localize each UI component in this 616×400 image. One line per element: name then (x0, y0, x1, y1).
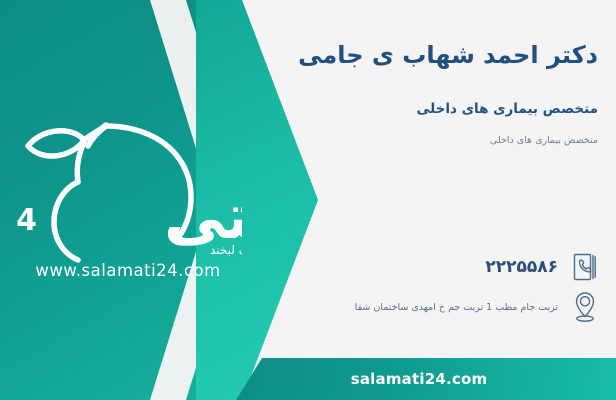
page-title: دکتر احمد شهاب ی جامی (326, 40, 598, 70)
apple-fruit-outline-icon: سلامتی 24 به راحتی یک لبخند www.salamati… (14, 112, 242, 280)
contact-row-phone[interactable]: ۲۲۲۵۵۸۶ (485, 248, 602, 286)
logo-number-24: 24 (14, 203, 38, 238)
location-pin-icon (568, 288, 602, 326)
doctor-profile-card: سلامتی 24 به راحتی یک لبخند www.salamati… (0, 0, 616, 400)
phone-number: ۲۲۲۵۵۸۶ (485, 257, 558, 277)
doctor-specialty: متخصص بیماری های داخلی (326, 101, 598, 117)
logo-tagline: به راحتی یک لبخند (210, 243, 242, 258)
doctor-specialty-secondary: متخصص بیماری های داخلی (326, 135, 598, 146)
brand-logo: سلامتی 24 به راحتی یک لبخند www.salamati… (14, 112, 242, 280)
profile-content: دکتر احمد شهاب ی جامی متخصص بیماری های د… (316, 0, 616, 400)
contact-row-address[interactable]: تربت جام مطب 1 تربت جم خ امهدی ساختمان ش… (355, 288, 602, 326)
clinic-address: تربت جام مطب 1 تربت جم خ امهدی ساختمان ش… (355, 302, 558, 313)
footer-website[interactable]: salamati24.com (351, 370, 502, 388)
logo-website-url: www.salamati24.com (35, 261, 220, 280)
footer-bar: salamati24.com (236, 358, 616, 400)
phone-book-icon (568, 248, 602, 286)
